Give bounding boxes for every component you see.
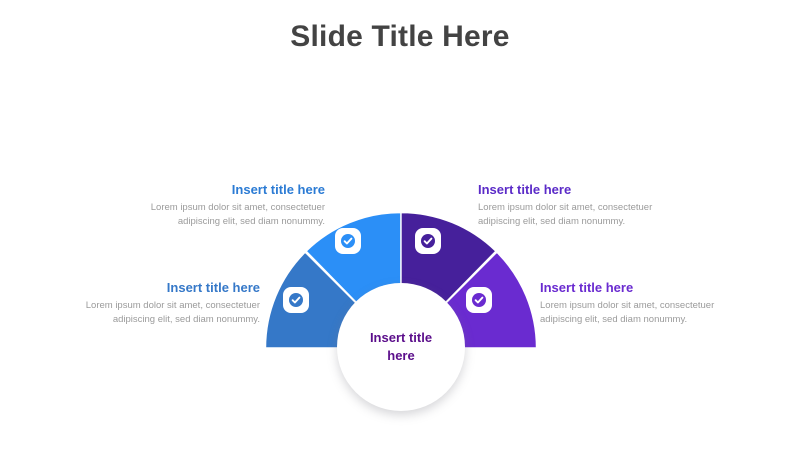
- check-icon: [471, 292, 487, 308]
- center-label-line2: here: [387, 348, 414, 363]
- callout-desc-2: Lorem ipsum dolor sit amet, consectetuer…: [478, 201, 678, 229]
- callout-label-1: Insert title here Lorem ipsum dolor sit …: [125, 182, 325, 229]
- center-label-line1: Insert title: [370, 330, 432, 345]
- callout-title-4: Insert title here: [540, 280, 740, 296]
- callout-desc-1: Lorem ipsum dolor sit amet, consectetuer…: [125, 201, 325, 229]
- check-icon: [420, 233, 436, 249]
- callout-title-1: Insert title here: [125, 182, 325, 198]
- check-badge-icon-1[interactable]: [283, 287, 309, 313]
- center-circle[interactable]: Insert titlehere: [337, 283, 465, 411]
- callout-desc-4: Lorem ipsum dolor sit amet, consectetuer…: [540, 299, 740, 327]
- callout-title-2: Insert title here: [478, 182, 678, 198]
- page-title: Slide Title Here: [0, 20, 800, 54]
- slide-canvas: Slide Title Here: [0, 0, 800, 450]
- callout-title-3: Insert title here: [60, 280, 260, 296]
- check-icon: [288, 292, 304, 308]
- callout-label-2: Insert title here Lorem ipsum dolor sit …: [478, 182, 678, 229]
- check-icon: [340, 233, 356, 249]
- callout-label-3: Insert title here Lorem ipsum dolor sit …: [60, 280, 260, 327]
- callout-label-4: Insert title here Lorem ipsum dolor sit …: [540, 280, 740, 327]
- check-badge-icon-4[interactable]: [466, 287, 492, 313]
- check-badge-icon-3[interactable]: [415, 228, 441, 254]
- callout-desc-3: Lorem ipsum dolor sit amet, consectetuer…: [60, 299, 260, 327]
- center-circle-label: Insert titlehere: [370, 329, 432, 364]
- check-badge-icon-2[interactable]: [335, 228, 361, 254]
